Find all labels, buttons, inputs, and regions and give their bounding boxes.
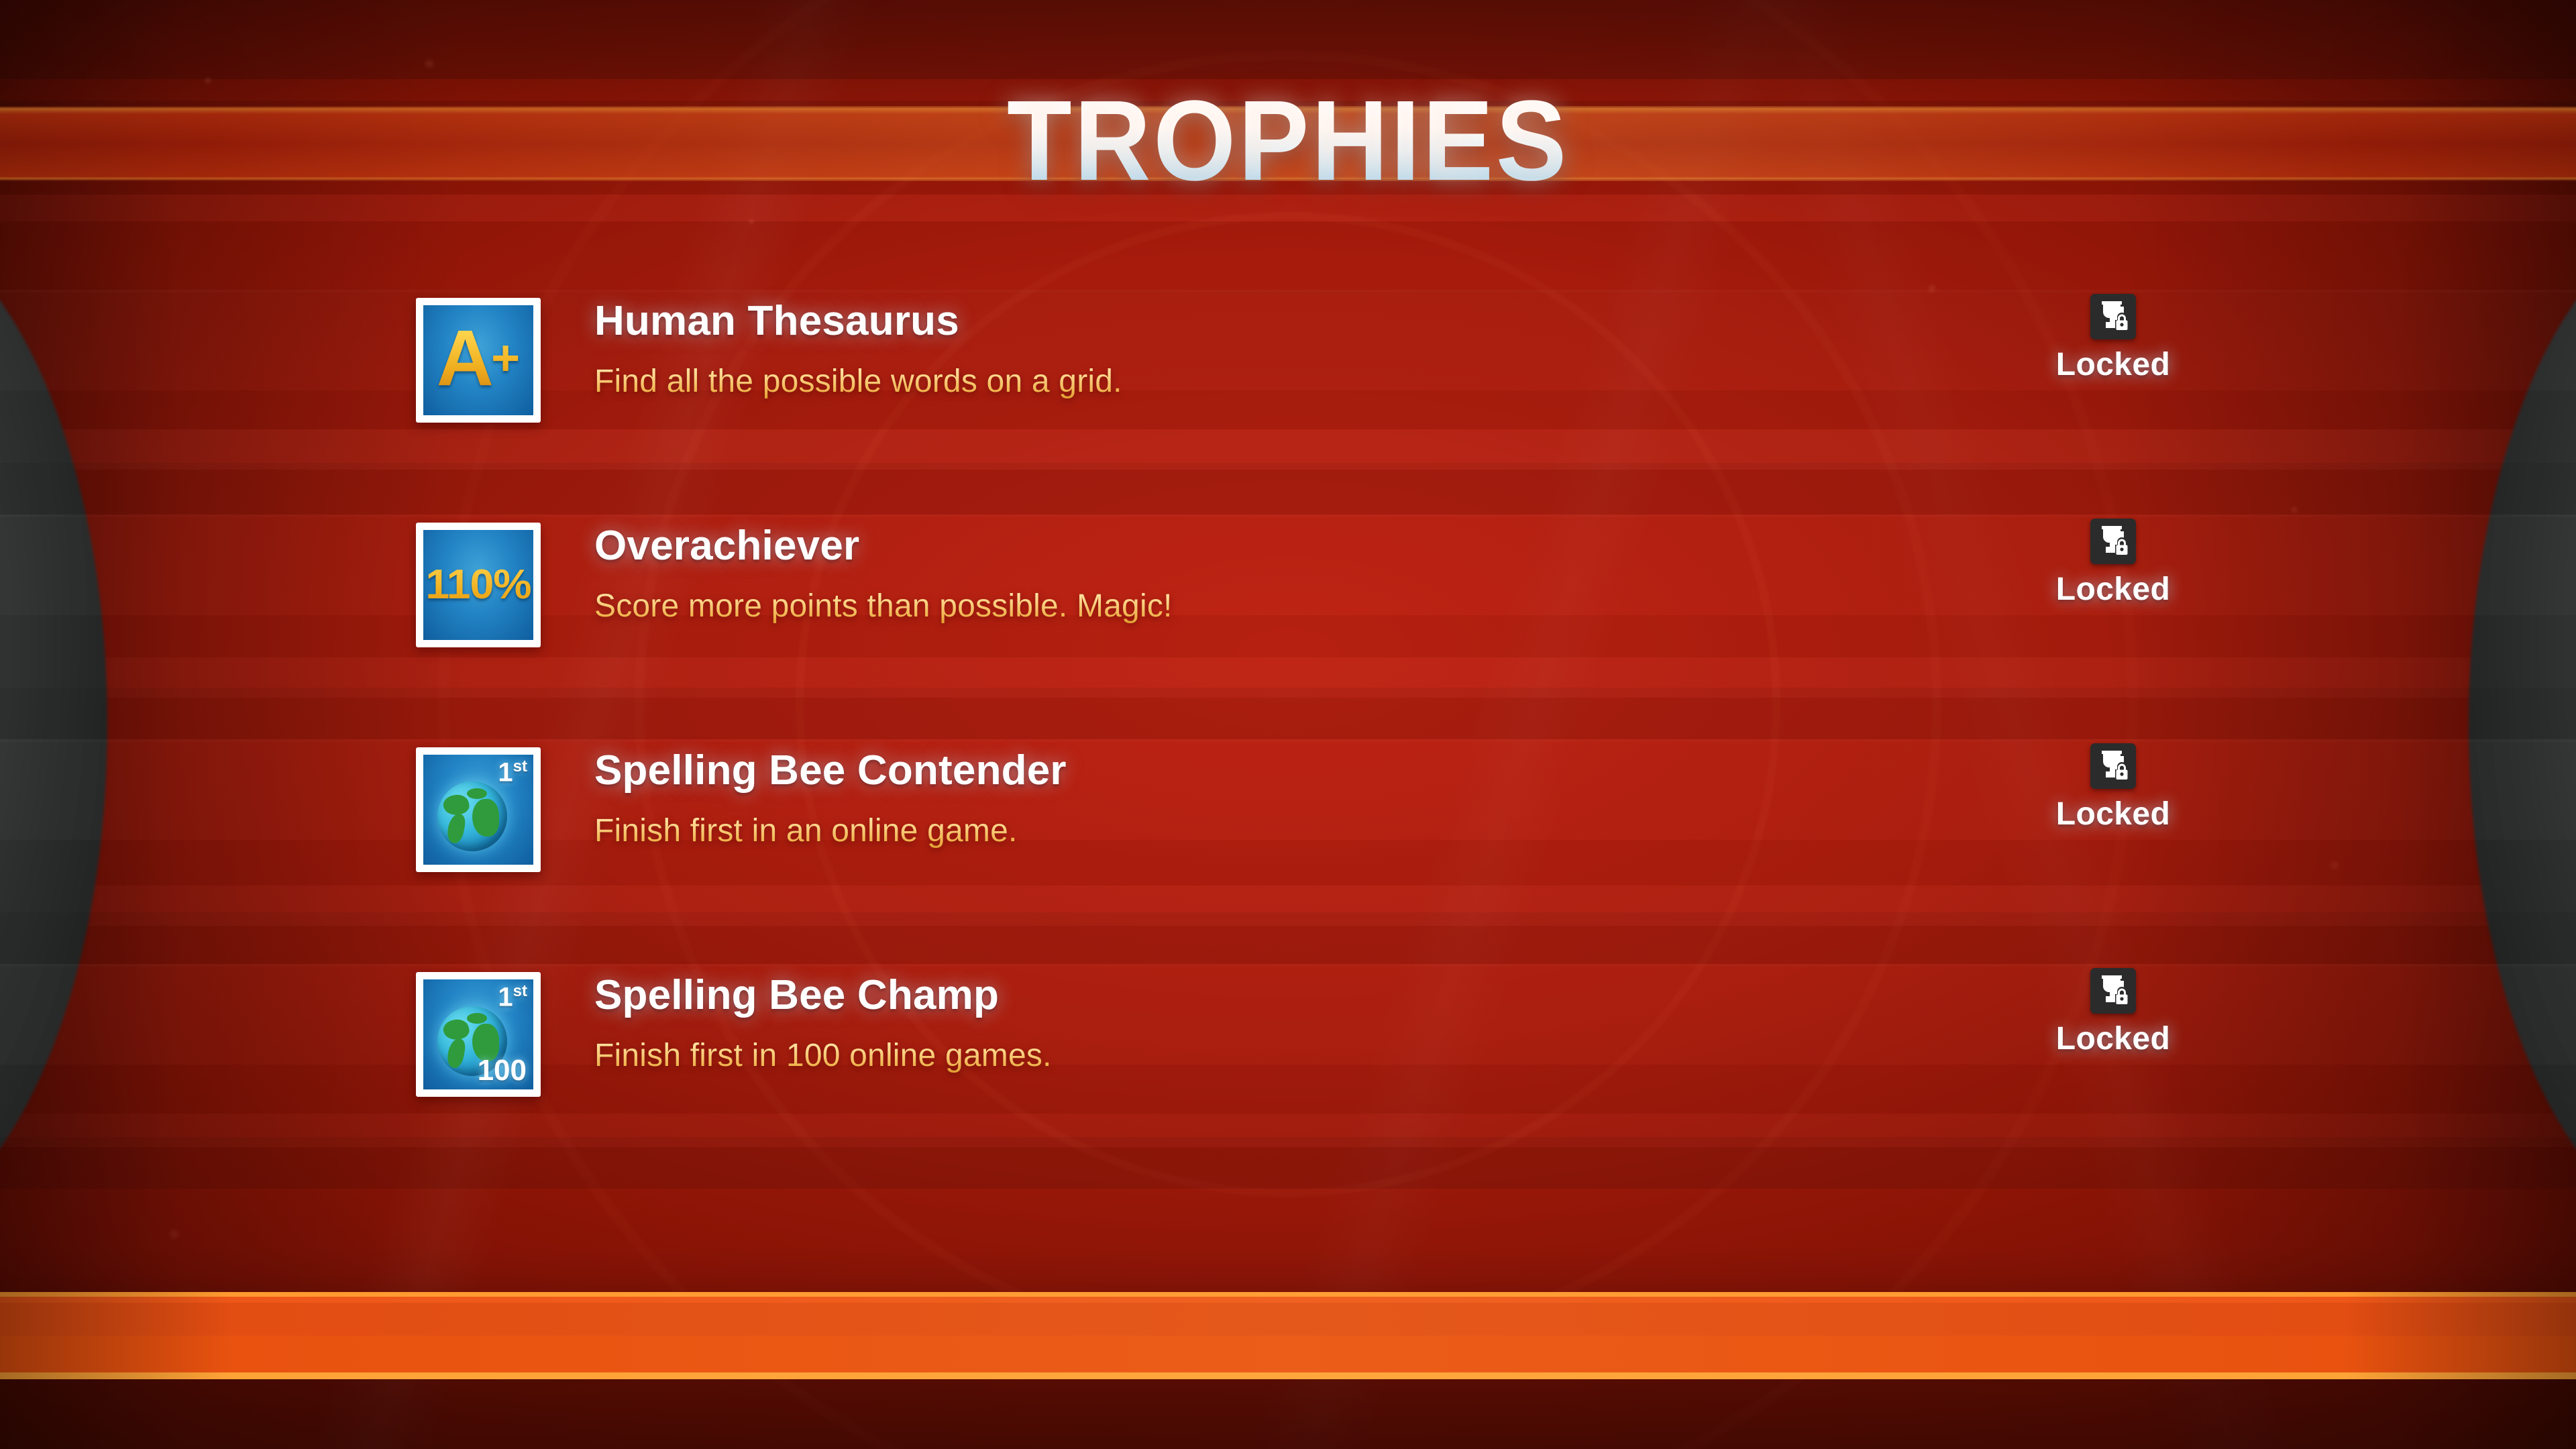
trophy-lock-icon	[2090, 294, 2136, 339]
trophy-text: Spelling Bee Champ Finish first in 100 o…	[594, 973, 1052, 1074]
globe-first-place-100-icon: 1st 100	[423, 979, 533, 1089]
count-label: 100	[478, 1056, 527, 1085]
trophy-status-label: Locked	[2026, 1020, 2200, 1057]
trophy-lock-icon	[2090, 968, 2136, 1014]
trophy-title: Spelling Bee Champ	[594, 973, 1052, 1017]
rank-label: 1st	[498, 983, 527, 1010]
a-plus-letter: A	[437, 319, 491, 398]
trophy-description: Find all the possible words on a grid.	[594, 364, 1122, 400]
trophy-icon-tile: A+	[416, 298, 541, 423]
trophy-status: Locked	[2026, 294, 2200, 383]
trophy-status-label: Locked	[2026, 796, 2200, 833]
trophy-list: A+ Human Thesaurus Find all the possible…	[416, 290, 2200, 1189]
trophy-title: Spelling Bee Contender	[594, 749, 1067, 792]
globe-icon	[437, 782, 507, 851]
trophy-text: Overachiever Score more points than poss…	[594, 524, 1173, 625]
trophy-row[interactable]: 1st Spelling Bee Contender Finish first …	[416, 739, 2200, 964]
globe-first-place-icon: 1st	[423, 755, 533, 865]
trophies-screen: TROPHIES A+ Human Thesaurus Find all the…	[0, 0, 2576, 1449]
a-plus-glyph: A+	[423, 305, 533, 415]
trophy-lock-icon	[2090, 519, 2136, 564]
trophy-row[interactable]: 110% Overachiever Score more points than…	[416, 515, 2200, 739]
percent-glyph: 110%	[423, 530, 533, 640]
trophy-icon-tile: 1st 100	[416, 972, 541, 1097]
trophy-status: Locked	[2026, 519, 2200, 608]
trophy-lock-icon	[2090, 743, 2136, 789]
trophy-status: Locked	[2026, 743, 2200, 833]
one-hundred-ten-percent-icon: 110%	[423, 530, 533, 640]
trophy-text: Human Thesaurus Find all the possible wo…	[594, 299, 1122, 400]
trophy-title: Human Thesaurus	[594, 299, 1122, 343]
trophy-status-label: Locked	[2026, 346, 2200, 383]
a-plus-icon: A+	[423, 305, 533, 415]
trophy-status: Locked	[2026, 968, 2200, 1057]
trophy-icon-tile: 1st	[416, 747, 541, 872]
trophy-row[interactable]: 1st 100 Spelling Bee Champ Finish first …	[416, 964, 2200, 1189]
a-plus-superscript: +	[491, 333, 520, 383]
trophy-status-label: Locked	[2026, 571, 2200, 608]
trophy-description: Finish first in 100 online games.	[594, 1038, 1052, 1074]
bottom-accent-bar	[0, 1292, 2576, 1379]
trophy-icon-tile: 110%	[416, 523, 541, 647]
trophy-description: Finish first in an online game.	[594, 814, 1067, 849]
rank-label: 1st	[498, 759, 527, 786]
trophy-text: Spelling Bee Contender Finish first in a…	[594, 749, 1067, 849]
trophy-description: Score more points than possible. Magic!	[594, 589, 1173, 625]
trophy-row[interactable]: A+ Human Thesaurus Find all the possible…	[416, 290, 2200, 515]
page-title: TROPHIES	[90, 84, 2485, 198]
trophy-title: Overachiever	[594, 524, 1173, 568]
